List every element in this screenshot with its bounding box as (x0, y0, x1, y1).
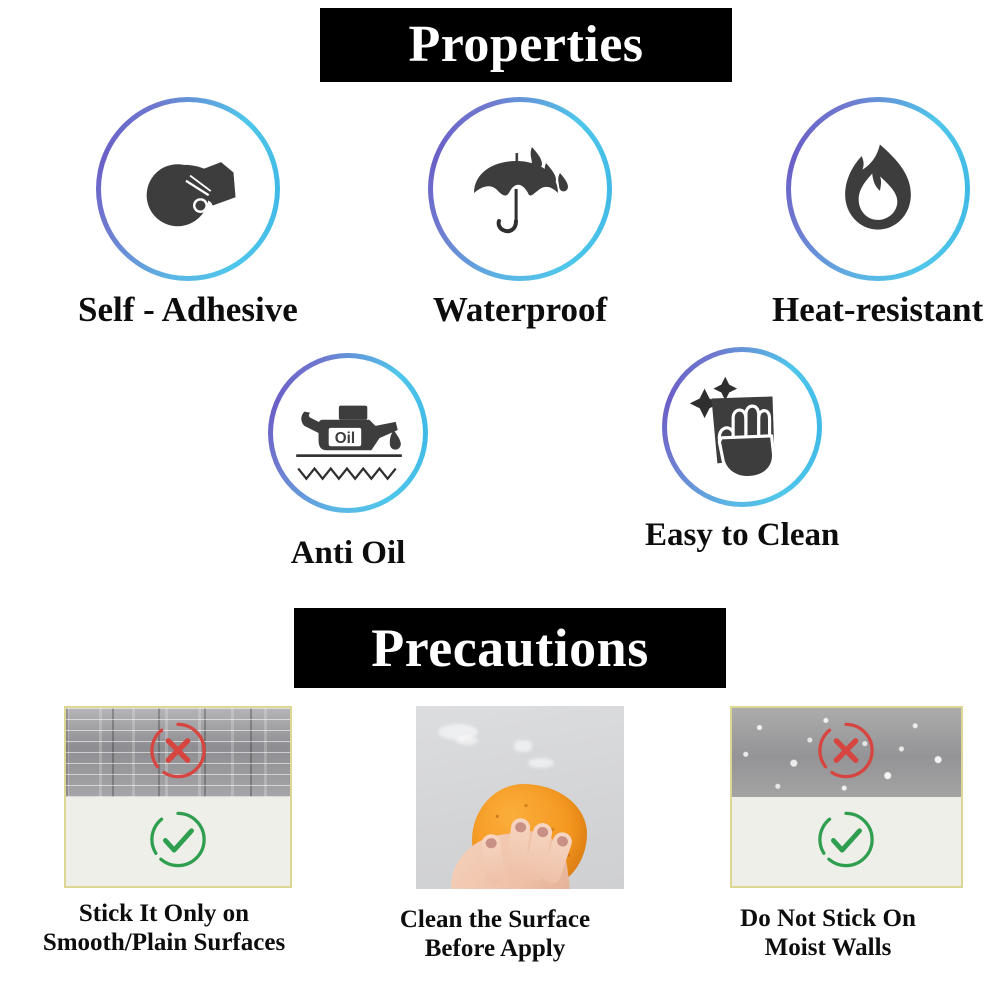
property-self-adhesive: Self - Adhesive (78, 97, 298, 330)
hand-wiping-cloth-icon (662, 347, 822, 507)
oil-can-label: Oil (335, 430, 355, 447)
caption-line-2: Before Apply (425, 935, 566, 962)
hand-peeling-sticker-icon (96, 97, 280, 281)
wall-photo-scene (416, 706, 624, 889)
property-label: Waterproof (433, 290, 607, 330)
sparkle-icon (714, 377, 738, 401)
properties-title: Properties (408, 19, 643, 71)
gradient-ring (662, 347, 822, 507)
property-easy-to-clean: Easy to Clean (645, 347, 839, 554)
caption-line-1: Clean the Surface (400, 906, 590, 933)
smooth-wall-band (66, 797, 290, 886)
brick-wall-vs-smooth-wall-image (64, 706, 292, 888)
moist-wall-band (732, 708, 961, 797)
hand-with-sponge-cleaning-wall-photo (416, 706, 624, 889)
precaution-caption: Do Not Stick OnMoist Walls (740, 905, 916, 962)
caption-line-2: Moist Walls (765, 934, 892, 961)
precaution-stick-only-smooth: Stick It Only onSmooth/Plain Surfaces (14, 706, 314, 957)
gradient-ring (428, 97, 612, 281)
precaution-no-moist-walls: Do Not Stick OnMoist Walls (678, 706, 978, 962)
property-icon-ring (96, 97, 280, 281)
caption-line-1: Do Not Stick On (740, 905, 916, 932)
property-heat-resistant: Heat-resistant (772, 97, 983, 330)
precautions-section-banner: Precautions (294, 608, 726, 688)
cross-icon (817, 721, 875, 784)
precaution-caption: Stick It Only onSmooth/Plain Surfaces (43, 900, 285, 957)
gradient-ring (96, 97, 280, 281)
dry-wall-band (732, 797, 961, 886)
caption-line-2: Smooth/Plain Surfaces (43, 929, 285, 956)
property-anti-oil: Oil Anti Oil (268, 353, 428, 572)
cross-icon (149, 721, 207, 784)
properties-section-banner: Properties (320, 8, 732, 82)
property-label: Easy to Clean (645, 517, 839, 554)
brick-wall-band (66, 708, 290, 797)
gradient-ring (786, 97, 970, 281)
check-icon (817, 810, 875, 873)
property-icon-ring: Oil (268, 353, 428, 513)
property-icon-ring (786, 97, 970, 281)
check-icon (149, 810, 207, 873)
property-label: Heat-resistant (772, 290, 983, 330)
property-icon-ring (428, 97, 612, 281)
umbrella-with-raindrops-icon (428, 97, 612, 281)
precaution-caption: Clean the SurfaceBefore Apply (400, 906, 590, 963)
property-label: Anti Oil (291, 535, 406, 572)
property-label: Self - Adhesive (78, 290, 298, 330)
caption-line-1: Stick It Only on (79, 900, 249, 927)
precautions-title: Precautions (371, 621, 648, 675)
oil-can-icon: Oil (268, 353, 428, 513)
property-icon-ring (662, 347, 822, 507)
property-waterproof: Waterproof (428, 97, 612, 330)
gradient-ring: Oil (268, 353, 428, 513)
moist-wall-vs-dry-wall-image (730, 706, 963, 888)
precaution-clean-before-apply: Clean the SurfaceBefore Apply (345, 706, 645, 963)
flame-icon (786, 97, 970, 281)
